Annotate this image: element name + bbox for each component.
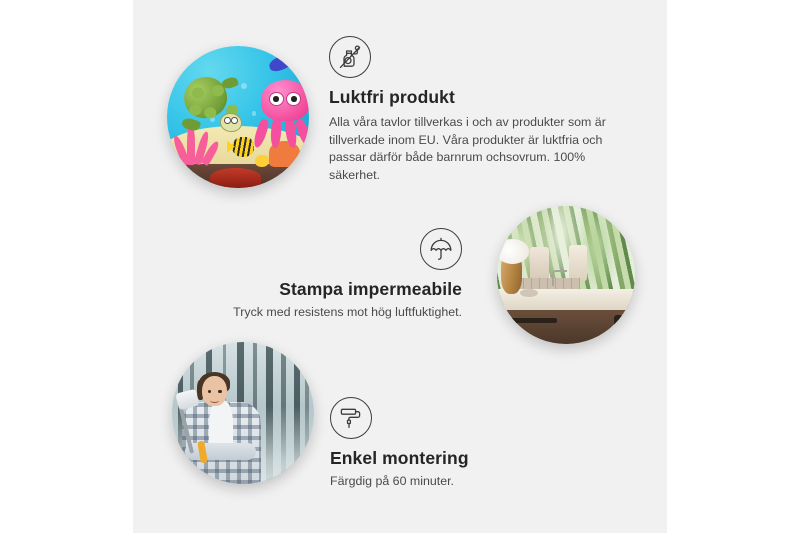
feature-waterproof: Stampa impermeabile Tryck med resistens … xyxy=(212,228,462,322)
feature-description: Tryck med resistens mot hög luftfuktighe… xyxy=(212,304,462,322)
yellow-fish-icon xyxy=(232,137,253,157)
small-fish-icon xyxy=(255,155,269,166)
product-feature-graphic: Luktfri produkt Alla våra tavlor tillver… xyxy=(0,0,800,533)
feature-title: Stampa impermeabile xyxy=(212,279,462,300)
no-fragrance-icon xyxy=(329,36,371,78)
photo-forest-installer xyxy=(172,342,314,484)
bathroom-panel xyxy=(569,245,587,281)
feature-odourless: Luktfri produkt Alla våra tavlor tillver… xyxy=(329,36,629,184)
feature-title: Luktfri produkt xyxy=(329,87,629,108)
octopus-icon xyxy=(255,80,309,145)
bathroom-mirror xyxy=(530,247,549,277)
paint-roller-icon xyxy=(330,397,372,439)
white-flowers xyxy=(497,239,529,264)
feature-description: Alla våra tavlor tillverkas i och av pro… xyxy=(329,114,629,184)
feature-title: Enkel montering xyxy=(330,448,590,469)
sea-turtle-icon xyxy=(181,77,241,134)
installer-person xyxy=(181,376,263,484)
photo-ocean xyxy=(167,46,309,188)
bathroom-cabinet xyxy=(497,310,635,345)
ocean-rock xyxy=(210,168,261,186)
photo-bathroom xyxy=(497,206,635,344)
umbrella-icon xyxy=(420,228,462,270)
bathroom-countertop xyxy=(497,289,635,311)
bubble-icon xyxy=(241,83,247,89)
faucet-icon xyxy=(552,270,566,286)
feature-assembly: Enkel montering Färgdig på 60 minuter. xyxy=(330,397,590,491)
feature-description: Färgdig på 60 minuter. xyxy=(330,473,590,491)
